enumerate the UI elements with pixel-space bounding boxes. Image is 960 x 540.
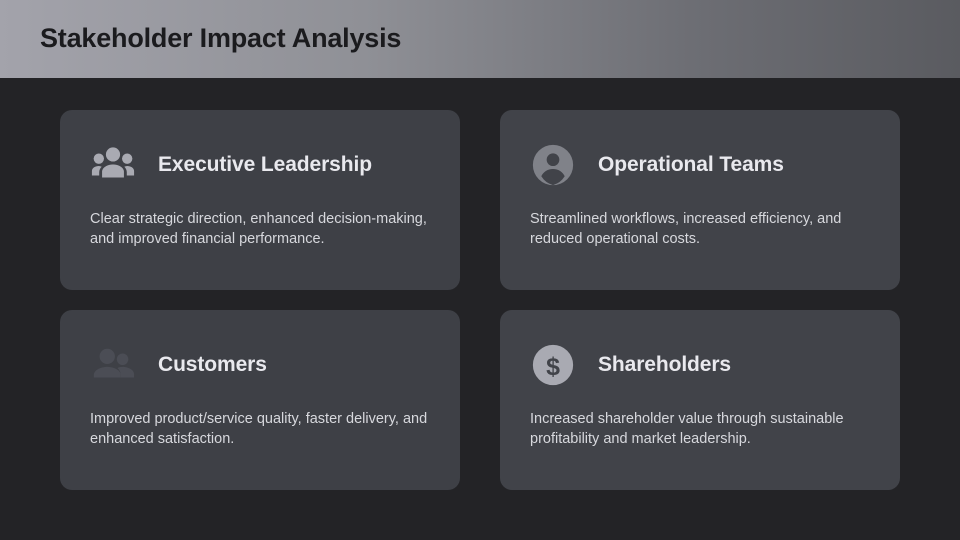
people-icon xyxy=(90,342,136,388)
card-title: Customers xyxy=(158,353,267,377)
card-description: Clear strategic direction, enhanced deci… xyxy=(90,210,434,249)
account-circle-icon xyxy=(530,142,576,188)
card-title: Operational Teams xyxy=(598,153,784,177)
card-header: Customers xyxy=(90,342,436,388)
page-title: Stakeholder Impact Analysis xyxy=(40,24,401,54)
stakeholder-card-shareholders[interactable]: $ Shareholders Increased shareholder val… xyxy=(500,310,900,490)
stakeholder-card-executive-leadership[interactable]: Executive Leadership Clear strategic dir… xyxy=(60,110,460,290)
slide-canvas: Stakeholder Impact Analysis Executive Le… xyxy=(0,0,960,540)
groups-icon xyxy=(90,142,136,188)
card-title: Executive Leadership xyxy=(158,153,372,177)
card-header: Executive Leadership xyxy=(90,142,436,188)
card-header: Operational Teams xyxy=(530,142,876,188)
stakeholder-card-operational-teams[interactable]: Operational Teams Streamlined workflows,… xyxy=(500,110,900,290)
card-title: Shareholders xyxy=(598,353,731,377)
stakeholder-card-grid: Executive Leadership Clear strategic dir… xyxy=(60,110,900,490)
svg-text:$: $ xyxy=(546,353,560,381)
card-header: $ Shareholders xyxy=(530,342,876,388)
stakeholder-card-customers[interactable]: Customers Improved product/service quali… xyxy=(60,310,460,490)
slide-header: Stakeholder Impact Analysis xyxy=(0,0,960,78)
card-description: Improved product/service quality, faster… xyxy=(90,410,434,449)
card-description: Streamlined workflows, increased efficie… xyxy=(530,210,874,249)
dollar-circle-icon: $ xyxy=(530,342,576,388)
card-description: Increased shareholder value through sust… xyxy=(530,410,874,449)
